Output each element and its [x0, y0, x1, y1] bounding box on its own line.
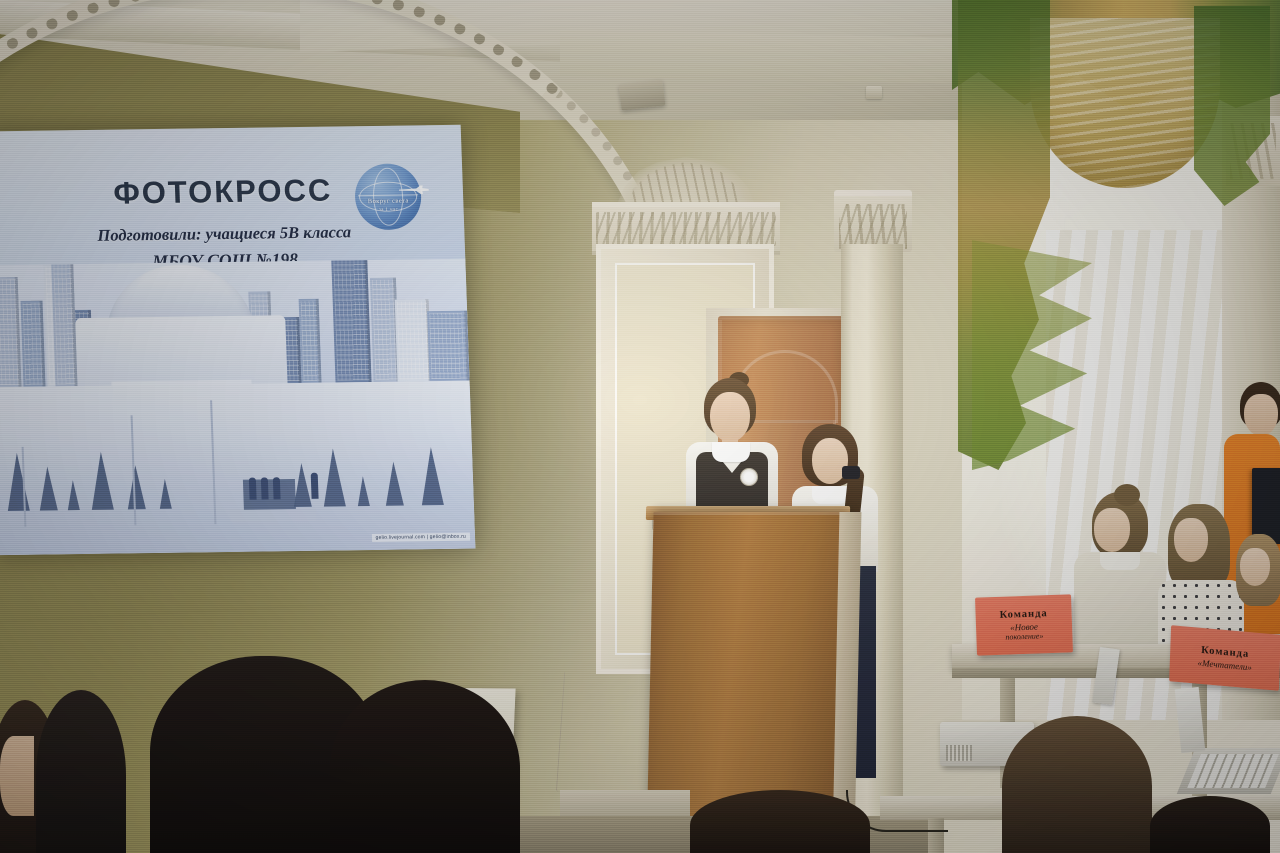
speaker1-face — [710, 392, 750, 442]
fir-tree — [322, 448, 346, 506]
team-card-1-name-line2: поколение» — [976, 630, 1072, 642]
fir-tree — [159, 479, 172, 509]
building — [299, 299, 322, 383]
girl1-hair-bun — [1114, 484, 1140, 506]
fir-tree — [38, 466, 58, 510]
floral-crest-molding — [616, 156, 756, 206]
column-capital — [834, 190, 912, 252]
team-name-card-1: Команда «Новое поколение» — [975, 594, 1073, 655]
girl2-face — [1174, 518, 1208, 562]
fir-tree — [126, 465, 146, 509]
monument-base — [230, 508, 316, 522]
projection-screen: ФОТОКРОСС Подготовили: учащиеся 5В класс… — [0, 125, 475, 555]
wall-fixture — [866, 86, 882, 99]
girl1-face — [1094, 508, 1130, 552]
slide-surface: ФОТОКРОСС Подготовили: учащиеся 5В класс… — [0, 125, 475, 555]
monument-figure — [249, 478, 257, 500]
speaker2-hair-bow — [842, 466, 860, 479]
building — [51, 259, 78, 387]
audience-head — [690, 790, 870, 853]
building — [0, 277, 22, 387]
ceiling-speaker — [619, 79, 666, 110]
skyscraper — [329, 259, 371, 383]
monument-figure — [273, 477, 281, 499]
fir-tree — [6, 453, 30, 511]
logo-text-line1: Вокруг света — [355, 197, 421, 205]
team-card-1-label: Команда — [975, 607, 1071, 621]
building — [427, 311, 469, 382]
speaker1-collar — [712, 442, 750, 462]
fir-tree — [90, 452, 114, 510]
fir-tree — [384, 462, 404, 506]
photo-scene: ФОТОКРОСС Подготовили: учащиеся 5В класс… — [0, 0, 1280, 853]
audience-head — [1002, 716, 1152, 853]
audience-head — [1150, 796, 1270, 853]
photo-watermark: gelio.livejournal.com | gelio@inbox.ru — [371, 533, 470, 542]
monument-figure — [311, 473, 319, 499]
monument-figure — [261, 477, 269, 499]
cityscape-photo: gelio.livejournal.com | gelio@inbox.ru — [0, 259, 475, 556]
adult-face — [1244, 394, 1278, 436]
audience-profile-face — [0, 736, 34, 816]
building — [21, 301, 46, 387]
audience-head — [330, 680, 520, 853]
girl1-collar — [1100, 552, 1140, 570]
logo-text-line2: за 1 час — [355, 207, 421, 213]
girl3-face — [1240, 548, 1270, 586]
laptop-keyboard[interactable] — [1177, 748, 1280, 794]
team-name-card-2: Команда «Мечтатели» — [1169, 625, 1280, 691]
audience-head — [36, 690, 126, 853]
building — [395, 299, 432, 381]
baseboard — [560, 790, 690, 818]
snow-covered-square — [0, 381, 475, 556]
school-emblem-badge — [740, 468, 758, 486]
fir-tree — [67, 480, 80, 510]
fir-tree — [420, 447, 444, 505]
speaker2-collar — [812, 486, 848, 504]
tablet-device[interactable] — [1252, 468, 1280, 544]
globe-airplane-logo-icon: Вокруг света за 1 час — [354, 163, 422, 230]
fir-tree — [357, 476, 370, 506]
